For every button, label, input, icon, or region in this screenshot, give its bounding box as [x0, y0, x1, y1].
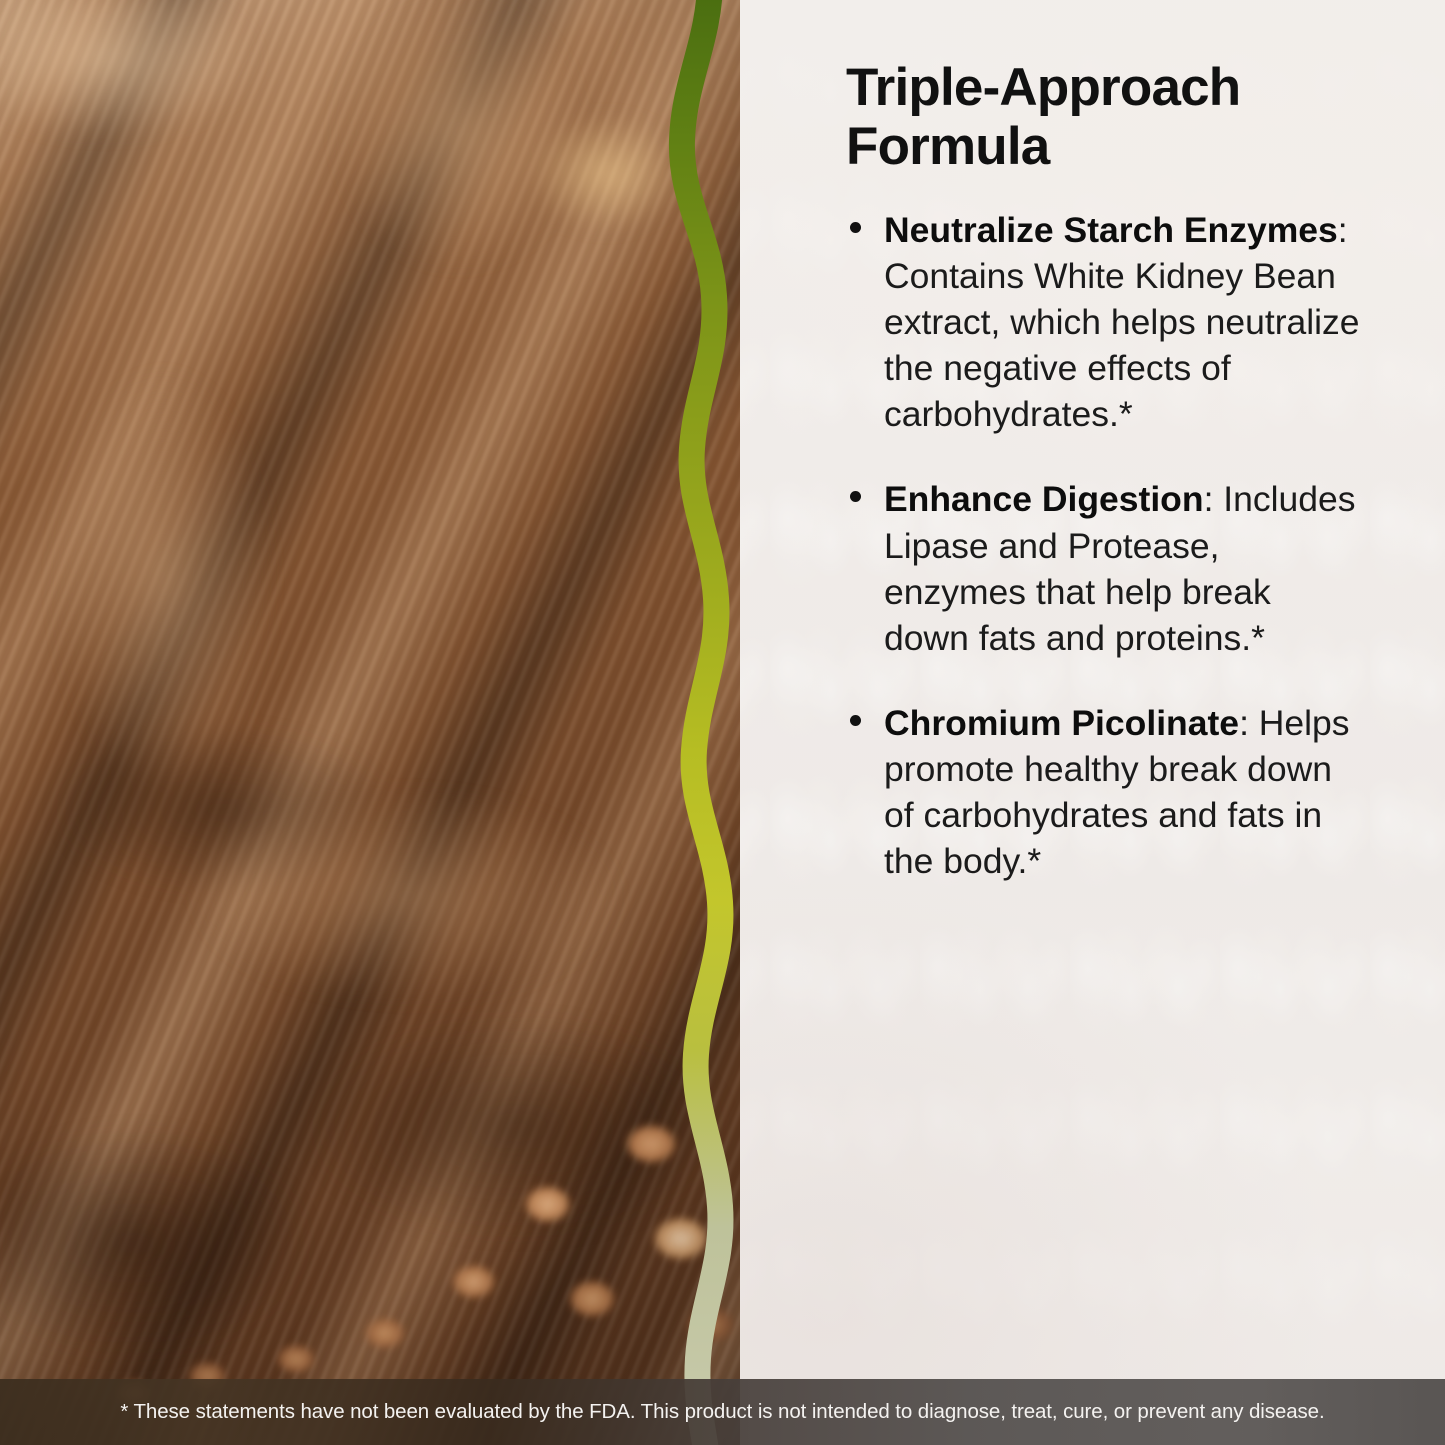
fda-disclaimer-bar: * These statements have not been evaluat…: [0, 1379, 1445, 1445]
benefit-title: Chromium Picolinate: [884, 703, 1239, 743]
bullet-dot-icon: [850, 715, 861, 726]
pasta-photo-vignette: [0, 0, 740, 1445]
page-title: Triple-Approach Formula: [846, 58, 1362, 177]
bullet-dot-icon: [850, 491, 861, 502]
bullet-dot-icon: [850, 222, 861, 233]
list-item: Enhance Digestion: Includes Lipase and P…: [846, 476, 1362, 661]
fda-disclaimer-text: * These statements have not been evaluat…: [120, 1400, 1324, 1424]
benefits-list: Neutralize Starch Enzymes: Contains Whit…: [846, 207, 1362, 885]
product-infographic-card: Triple-Approach Formula Neutralize Starc…: [0, 0, 1445, 1445]
list-item: Neutralize Starch Enzymes: Contains Whit…: [846, 207, 1362, 438]
benefit-title: Enhance Digestion: [884, 479, 1204, 519]
formula-content-panel: Triple-Approach Formula Neutralize Starc…: [846, 58, 1362, 885]
pasta-photo: [0, 0, 740, 1445]
list-item: Chromium Picolinate: Helps promote healt…: [846, 700, 1362, 885]
benefit-title: Neutralize Starch Enzymes: [884, 210, 1338, 250]
